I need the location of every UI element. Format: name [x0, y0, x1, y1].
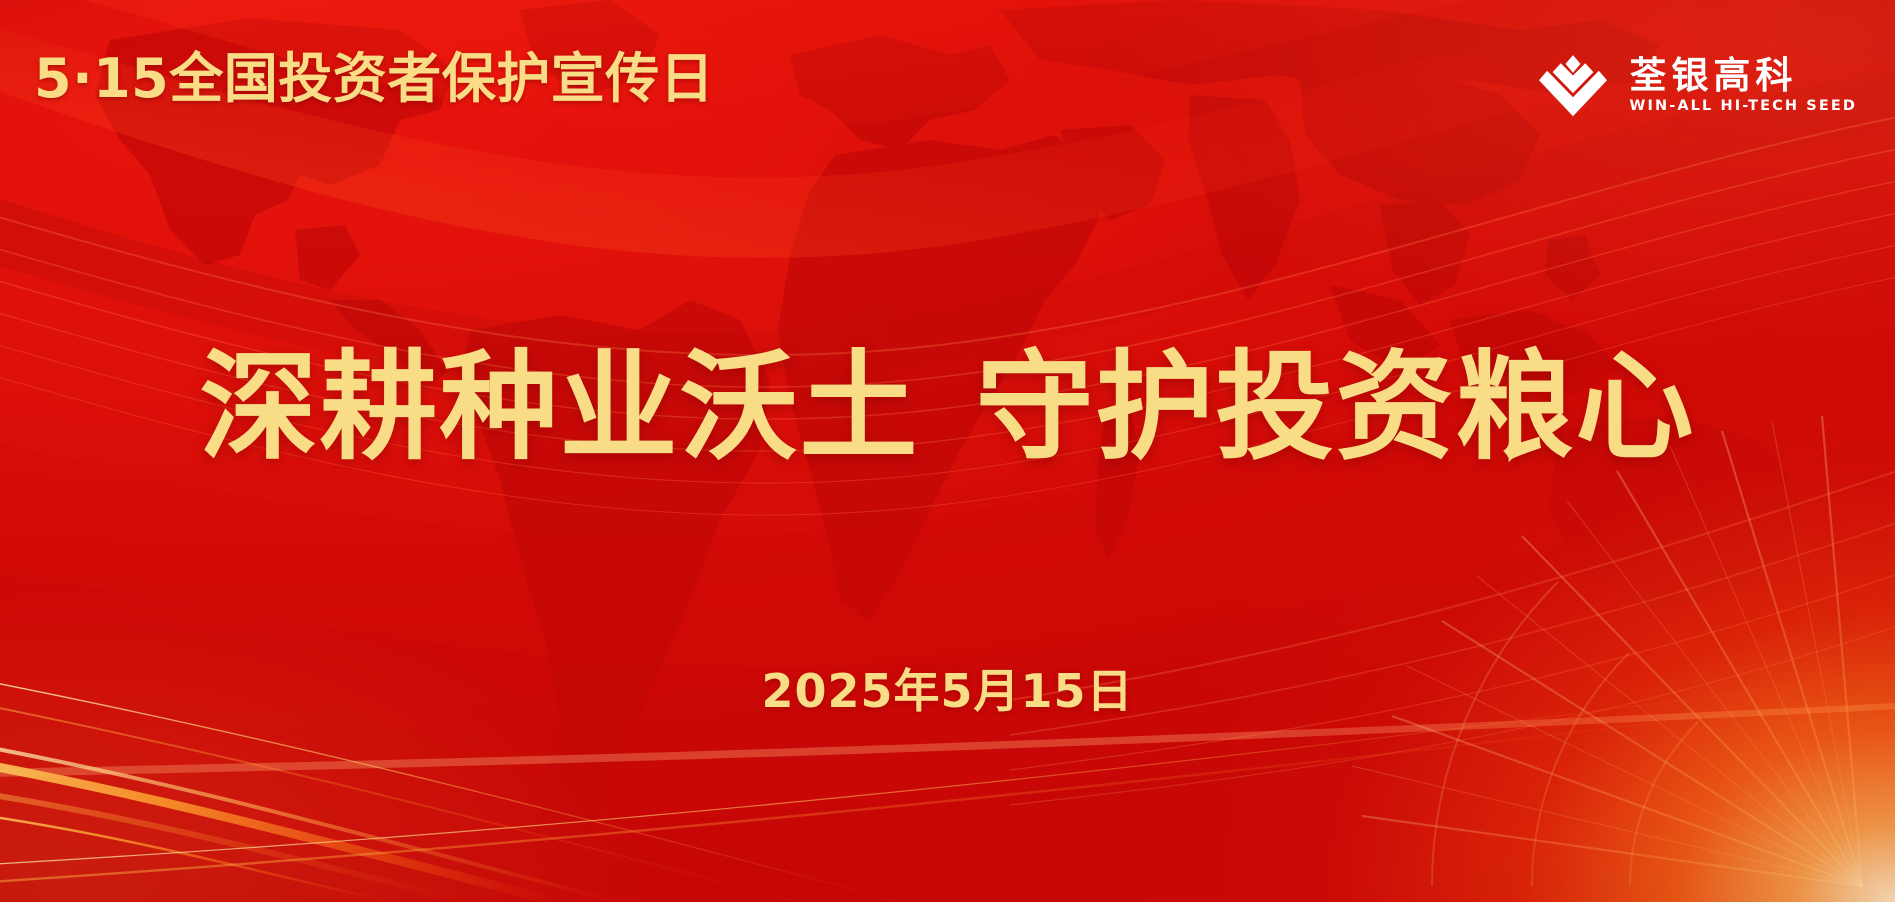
brand-name-cn: 荃银高科 [1629, 57, 1857, 94]
main-title-part-1: 深耕种业沃土 [199, 338, 919, 476]
chevron-diamond-logo-mark-icon [1539, 52, 1607, 118]
brand-text-block: 荃银高科 WIN-ALL HI-TECH SEED [1629, 57, 1857, 114]
poster-banner: 5·15全国投资者保护宣传日 深耕种业沃土守护投资粮心 2025年5月15日 荃… [0, 0, 1895, 902]
page-title: 深耕种业沃土守护投资粮心 [0, 348, 1895, 466]
event-date: 2025年5月15日 [0, 655, 1895, 721]
campaign-header-label: 5·15全国投资者保护宣传日 [34, 52, 714, 106]
brand-name-en: WIN-ALL HI-TECH SEED [1629, 99, 1857, 114]
main-title-part-2: 守护投资粮心 [976, 338, 1696, 476]
brand-logo: 荃银高科 WIN-ALL HI-TECH SEED [1539, 52, 1857, 118]
